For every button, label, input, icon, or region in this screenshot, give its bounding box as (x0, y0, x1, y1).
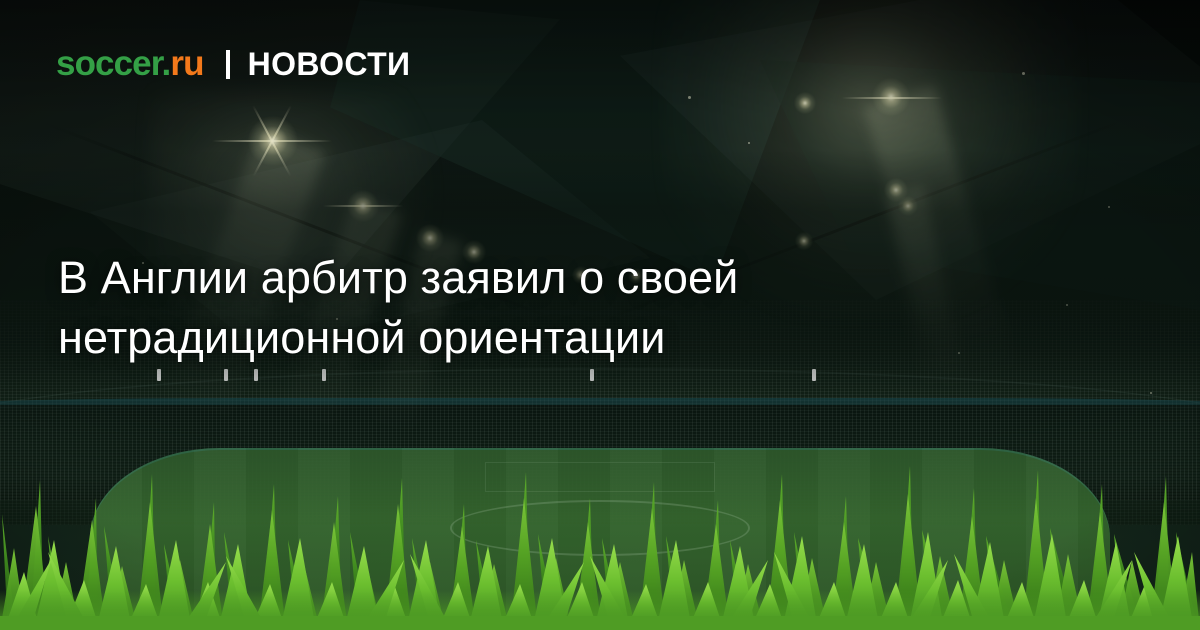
headline-line-2: нетрадиционной ориентации (58, 308, 1038, 368)
news-share-card: soccer.ru НОВОСТИ В Англии арбитр заявил… (0, 0, 1200, 630)
headline-line-1: В Англии арбитр заявил о своей (58, 248, 1038, 308)
header: soccer.ru НОВОСТИ (56, 46, 410, 81)
header-divider (226, 50, 230, 79)
foreground-grass (0, 440, 1200, 630)
site-logo[interactable]: soccer.ru (56, 46, 204, 81)
logo-text-primary: soccer. (56, 44, 170, 83)
logo-text-tld: ru (170, 44, 203, 83)
grass-blades-icon (0, 440, 1200, 630)
section-label: НОВОСТИ (248, 48, 411, 80)
page-title: В Англии арбитр заявил о своей нетрадици… (58, 248, 1038, 368)
